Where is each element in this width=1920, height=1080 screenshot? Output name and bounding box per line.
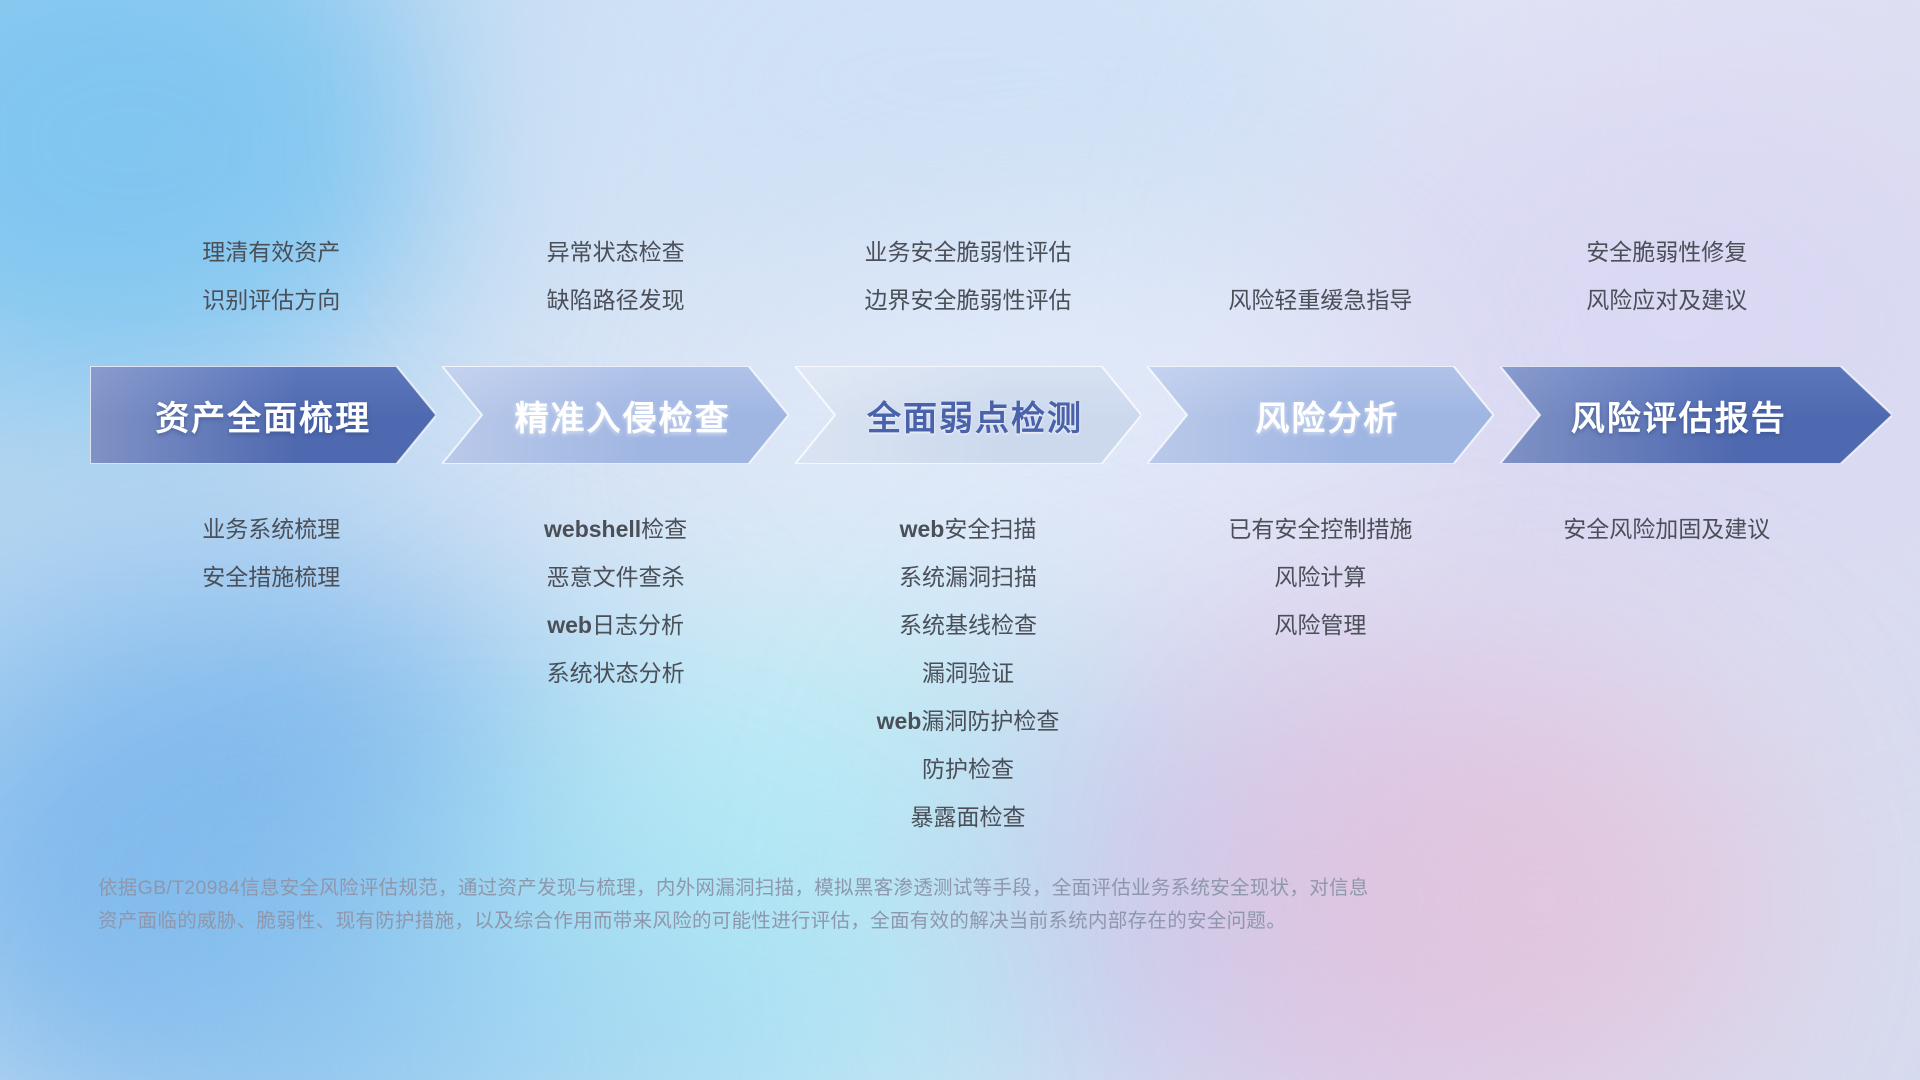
stage-title-risk-report: 风险评估报告 bbox=[1571, 391, 1787, 440]
stage-inputs-risk-report: 安全脆弱性修复风险应对及建议 bbox=[1427, 228, 1907, 324]
stage-title-asset-inventory: 资产全面梳理 bbox=[155, 391, 371, 440]
stage-title-weakness-detection: 全面弱点检测 bbox=[867, 391, 1083, 440]
process-stage-weakness-detection[interactable]: 全面弱点检测 bbox=[795, 366, 1141, 464]
input-item: 风险应对及建议 bbox=[1427, 276, 1907, 324]
output-item: 暴露面检查 bbox=[728, 793, 1208, 841]
output-item: 风险管理 bbox=[1080, 601, 1560, 649]
input-item: 业务安全脆弱性评估 bbox=[728, 228, 1208, 276]
footer-description: 依据GB/T20984信息安全风险评估规范，通过资产发现与梳理，内外网漏洞扫描，… bbox=[98, 872, 1698, 938]
process-stage-asset-inventory[interactable]: 资产全面梳理 bbox=[90, 366, 436, 464]
output-item: 安全风险加固及建议 bbox=[1427, 505, 1907, 553]
process-stage-risk-report[interactable]: 风险评估报告 bbox=[1500, 366, 1892, 464]
footer-line-1: 依据GB/T20984信息安全风险评估规范，通过资产发现与梳理，内外网漏洞扫描，… bbox=[98, 872, 1698, 905]
stage-outputs-risk-report: 安全风险加固及建议 bbox=[1427, 505, 1907, 553]
infographic-root: 理清有效资产识别评估方向异常状态检查缺陷路径发现业务安全脆弱性评估边界安全脆弱性… bbox=[0, 0, 1920, 1080]
stage-title-intrusion-check: 精准入侵检查 bbox=[515, 391, 731, 440]
output-item: 风险计算 bbox=[1080, 553, 1560, 601]
footer-line-2: 资产面临的威胁、脆弱性、现有防护措施，以及综合作用而带来风险的可能性进行评估，全… bbox=[98, 905, 1698, 938]
process-chevron-band: 资产全面梳理 精准入侵检查 bbox=[90, 366, 1846, 464]
output-item: web漏洞防护检查 bbox=[728, 697, 1208, 745]
process-stage-intrusion-check[interactable]: 精准入侵检查 bbox=[442, 366, 788, 464]
stage-title-risk-analysis: 风险分析 bbox=[1255, 391, 1399, 440]
process-stage-risk-analysis[interactable]: 风险分析 bbox=[1147, 366, 1493, 464]
output-item: 漏洞验证 bbox=[728, 649, 1208, 697]
output-item: 防护检查 bbox=[728, 745, 1208, 793]
input-item: 安全脆弱性修复 bbox=[1427, 228, 1907, 276]
